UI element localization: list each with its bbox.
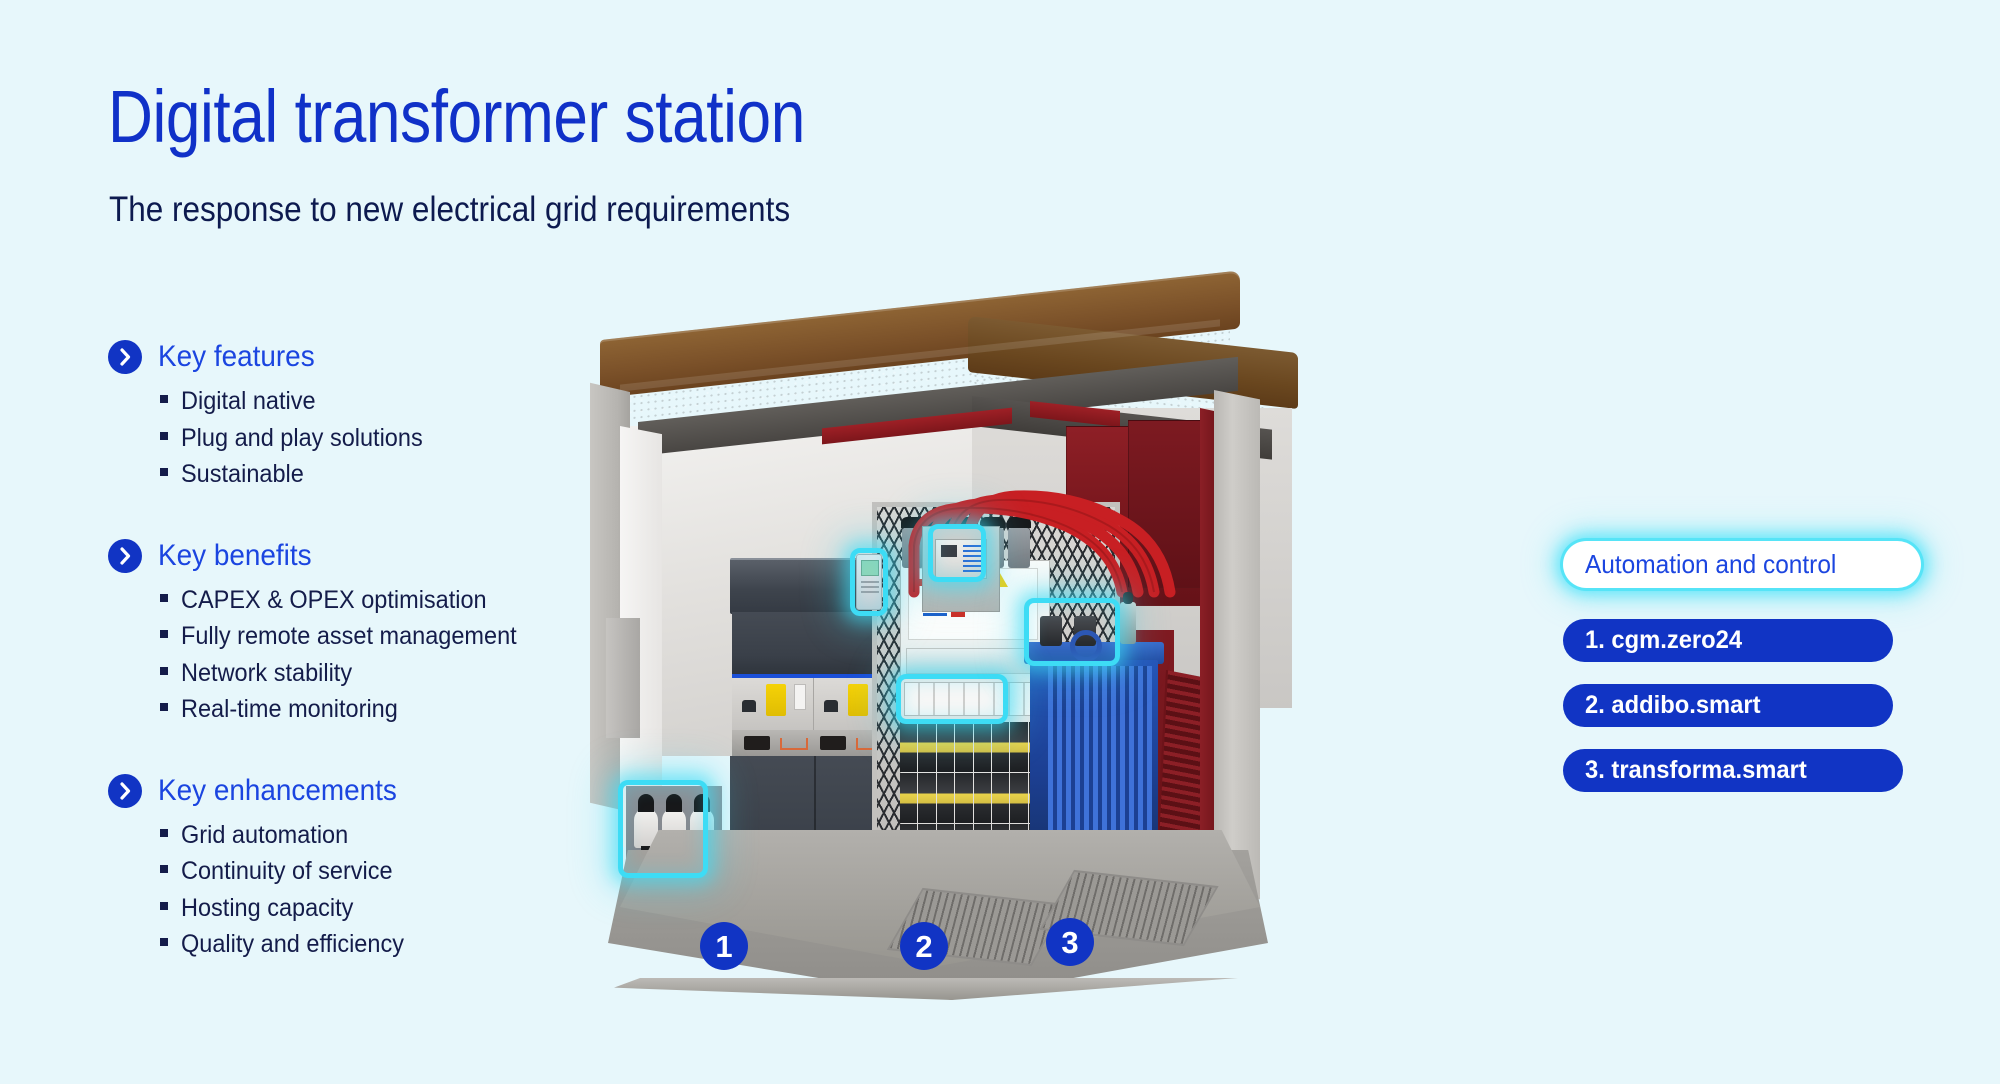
list-item-label: Digital native [181, 383, 316, 420]
bullet-list-key-features: Digital native Plug and play solutions S… [108, 383, 628, 493]
switchgear-bay [732, 678, 814, 730]
mimic-line [923, 613, 947, 616]
operating-knob-icon [742, 700, 756, 712]
marker-1[interactable]: 1 [700, 922, 748, 970]
list-item: Network stability [160, 655, 628, 692]
page-subtitle: The response to new electrical grid requ… [109, 190, 790, 230]
lv-fuse [1010, 773, 1027, 823]
legend-category-label: Automation and control [1585, 549, 1836, 580]
operating-knob-icon [824, 700, 838, 712]
square-bullet-icon [160, 829, 168, 837]
square-bullet-icon [160, 703, 168, 711]
chevron-right-circle-icon [108, 539, 142, 573]
square-bullet-icon [160, 902, 168, 910]
hmi-display-highlight [850, 548, 888, 616]
list-item: Grid automation [160, 817, 628, 854]
square-bullet-icon [160, 938, 168, 946]
legend-item-addibo-smart[interactable]: 2. addibo.smart [1563, 684, 1893, 727]
lv-fuse [1010, 722, 1027, 772]
lv-fuse [992, 773, 1009, 823]
group-title: Key enhancements [158, 774, 397, 808]
list-item-label: Continuity of service [181, 853, 393, 890]
bullet-list-key-enhancements: Grid automation Continuity of service Ho… [108, 817, 628, 963]
list-item: Quality and efficiency [160, 926, 628, 963]
square-bullet-icon [160, 594, 168, 602]
list-item: Fully remote asset management [160, 618, 628, 655]
group-header-key-enhancements[interactable]: Key enhancements [108, 774, 628, 808]
legend-item-transforma-smart[interactable]: 3. transforma.smart [1563, 749, 1903, 792]
lv-fuse [900, 722, 917, 772]
floor-slab-edge [614, 978, 1264, 1000]
feature-group-key-features: Key features Digital native Plug and pla… [108, 340, 628, 493]
square-bullet-icon [160, 865, 168, 873]
yellow-label-icon [766, 684, 786, 716]
legend-item-label: 2. addibo.smart [1585, 691, 1761, 720]
square-bullet-icon [160, 395, 168, 403]
chevron-right-circle-icon [108, 774, 142, 808]
square-bullet-icon [160, 468, 168, 476]
transformer-cooling-fins [1048, 666, 1152, 842]
legend-item-cgm-zero24[interactable]: 1. cgm.zero24 [1563, 619, 1893, 662]
list-item-label: Sustainable [181, 456, 304, 493]
group-header-key-benefits[interactable]: Key benefits [108, 539, 628, 573]
list-item: Continuity of service [160, 853, 628, 890]
lv-fuse [937, 773, 954, 823]
lv-fuse [974, 722, 991, 772]
list-item: Real-time monitoring [160, 691, 628, 728]
list-item-label: Real-time monitoring [181, 691, 398, 728]
lv-breaker-row-highlight [896, 674, 1008, 724]
list-item: CAPEX & OPEX optimisation [160, 582, 628, 619]
transformer-bushing [1120, 602, 1136, 644]
square-bullet-icon [160, 630, 168, 638]
list-item-label: Network stability [181, 655, 352, 692]
list-item: Hosting capacity [160, 890, 628, 927]
cable-termination-highlight [618, 780, 708, 878]
legend-item-label: 1. cgm.zero24 [1585, 626, 1742, 655]
list-item-label: Quality and efficiency [181, 926, 404, 963]
lv-fuse [918, 722, 935, 772]
list-item: Digital native [160, 383, 628, 420]
switchgear-side-flange [606, 618, 640, 738]
page-title: Digital transformer station [108, 78, 805, 156]
list-item: Sustainable [160, 456, 628, 493]
lv-fuse [900, 773, 917, 823]
hv-cable-arcs [870, 460, 1210, 600]
group-title: Key benefits [158, 539, 312, 573]
lv-fuse [974, 773, 991, 823]
transformer-monitor-highlight [1024, 598, 1120, 666]
yellow-label-icon [848, 684, 868, 716]
list-item-label: Hosting capacity [181, 890, 353, 927]
feature-group-key-benefits: Key benefits CAPEX & OPEX optimisation F… [108, 539, 628, 728]
lv-fuse [955, 722, 972, 772]
list-item-label: Grid automation [181, 817, 348, 854]
circuit-symbol-icon [780, 738, 808, 750]
legend-category-automation-and-control[interactable]: Automation and control [1563, 541, 1921, 588]
station-illustration: 1 2 3 [600, 330, 1500, 1020]
legend-item-label: 3. transforma.smart [1585, 756, 1807, 785]
chevron-right-circle-icon [108, 340, 142, 374]
square-bullet-icon [160, 432, 168, 440]
outer-wall-right [1214, 390, 1260, 899]
bullet-list-key-benefits: CAPEX & OPEX optimisation Fully remote a… [108, 582, 628, 728]
marker-2[interactable]: 2 [900, 922, 948, 970]
control-box-highlight [928, 524, 986, 582]
label-plate [744, 736, 770, 750]
group-header-key-features[interactable]: Key features [108, 340, 628, 374]
lv-fuse [918, 773, 935, 823]
lv-fuse [937, 722, 954, 772]
lv-fuse [955, 773, 972, 823]
lv-terminal-strip [906, 648, 1040, 674]
legend-panel: Automation and control 1. cgm.zero24 2. … [1563, 541, 1923, 814]
marker-3[interactable]: 3 [1046, 918, 1094, 966]
list-item-label: CAPEX & OPEX optimisation [181, 582, 487, 619]
group-title: Key features [158, 340, 315, 374]
feature-group-key-enhancements: Key enhancements Grid automation Continu… [108, 774, 628, 963]
square-bullet-icon [160, 667, 168, 675]
features-column: Key features Digital native Plug and pla… [108, 340, 628, 963]
label-plate [820, 736, 846, 750]
lv-fuse [992, 722, 1009, 772]
list-item-label: Plug and play solutions [181, 420, 423, 457]
list-item-label: Fully remote asset management [181, 618, 517, 655]
list-item: Plug and play solutions [160, 420, 628, 457]
indicator-module [794, 684, 806, 710]
